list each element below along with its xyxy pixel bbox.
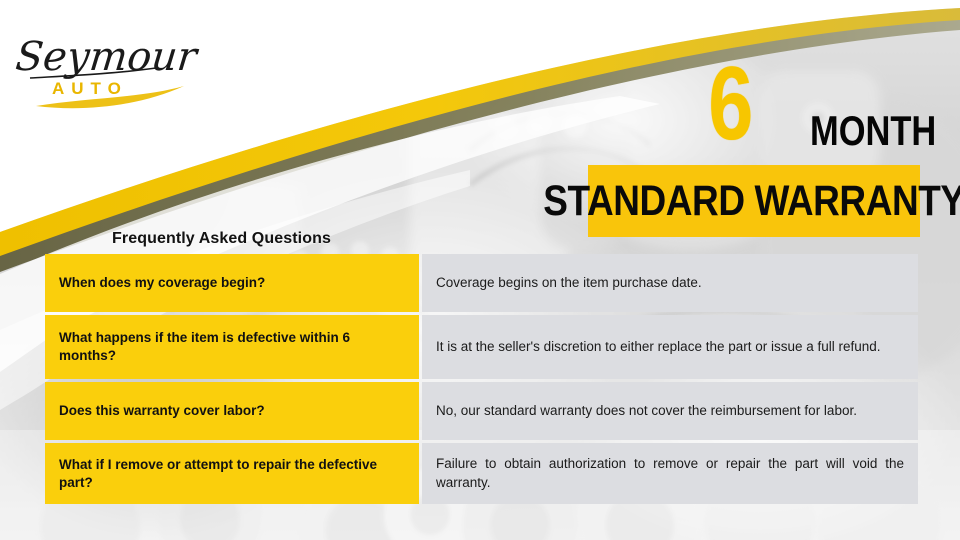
faq-answer-text: It is at the seller's discretion to eith…	[436, 338, 904, 356]
warranty-title-text: STANDARD WARRANTY	[543, 180, 960, 223]
faq-answer-cell: No, our standard warranty does not cover…	[422, 382, 918, 440]
faq-row: Does this warranty cover labor? No, our …	[45, 382, 918, 440]
logo-auto-text: AUTO	[52, 79, 128, 98]
faq-question-cell: When does my coverage begin?	[45, 254, 419, 312]
faq-question-cell: What happens if the item is defective wi…	[45, 315, 419, 379]
faq-row: What happens if the item is defective wi…	[45, 315, 918, 379]
faq-question-cell: What if I remove or attempt to repair th…	[45, 443, 419, 504]
faq-answer-cell: Failure to obtain authorization to remov…	[422, 443, 918, 504]
faq-answer-text: Failure to obtain authorization to remov…	[436, 455, 904, 492]
warranty-badge: 6 MONTH STANDARD WARRANTY	[588, 58, 920, 238]
faq-question-cell: Does this warranty cover labor?	[45, 382, 419, 440]
faq-answer-text: No, our standard warranty does not cover…	[436, 402, 904, 420]
warranty-title-bar: STANDARD WARRANTY	[588, 165, 920, 237]
brand-logo: Seymour AUTO	[14, 18, 204, 110]
slide-canvas: Seymour AUTO 6 MONTH STANDARD WARRANTY F…	[0, 0, 960, 540]
faq-heading: Frequently Asked Questions	[112, 230, 331, 248]
faq-answer-text: Coverage begins on the item purchase dat…	[436, 274, 904, 292]
faq-answer-cell: Coverage begins on the item purchase dat…	[422, 254, 918, 312]
warranty-month-count: 6	[708, 52, 752, 156]
faq-answer-cell: It is at the seller's discretion to eith…	[422, 315, 918, 379]
warranty-month-label: MONTH	[810, 110, 936, 152]
faq-row: When does my coverage begin? Coverage be…	[45, 254, 918, 312]
faq-table: When does my coverage begin? Coverage be…	[45, 254, 918, 504]
faq-row: What if I remove or attempt to repair th…	[45, 443, 918, 504]
warranty-badge-top: 6 MONTH	[588, 58, 920, 160]
